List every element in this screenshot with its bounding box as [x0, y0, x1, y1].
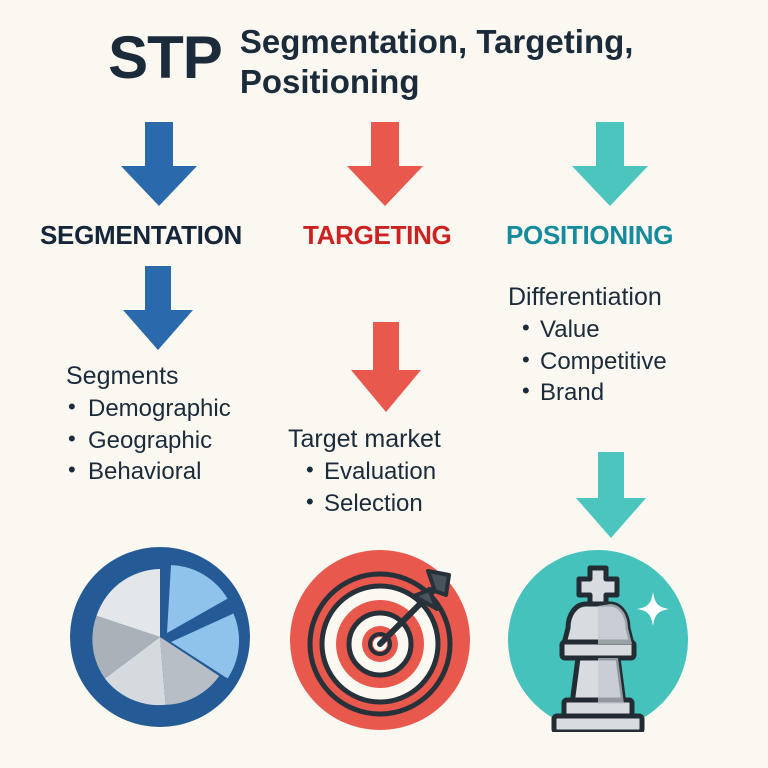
list-item: Evaluation	[304, 456, 441, 488]
block-title-segments: Segments	[66, 362, 231, 391]
infographic-canvas: STP Segmentation, Targeting, Positioning…	[0, 0, 768, 768]
down-arrow-red-mid	[348, 322, 424, 412]
text-block-segments: Segments Demographic Geographic Behavior…	[66, 362, 231, 488]
block-title-differentiation: Differentiation	[508, 283, 667, 312]
down-arrow-teal-top	[569, 122, 651, 206]
bullet-list-differentiation: Value Competitive Brand	[508, 314, 667, 409]
list-item: Geographic	[66, 425, 231, 457]
list-item: Behavioral	[66, 456, 231, 488]
block-title-target-market: Target market	[288, 425, 441, 454]
list-item: Competitive	[520, 346, 667, 378]
column-heading-segmentation: SEGMENTATION	[40, 220, 242, 251]
title-expansion: Segmentation, Targeting, Positioning	[240, 22, 660, 103]
text-block-target-market: Target market Evaluation Selection	[288, 425, 441, 519]
bullet-list-segments: Demographic Geographic Behavioral	[66, 393, 231, 488]
target-bullseye-icon	[288, 548, 472, 732]
text-block-differentiation: Differentiation Value Competitive Brand	[508, 283, 667, 409]
list-item: Value	[520, 314, 667, 346]
down-arrow-red-top	[344, 122, 426, 206]
page-title: STP Segmentation, Targeting, Positioning	[0, 22, 768, 103]
pie-chart-icon	[68, 545, 252, 729]
bullet-list-target-market: Evaluation Selection	[288, 456, 441, 519]
column-heading-positioning: POSITIONING	[506, 220, 673, 251]
down-arrow-blue-top	[118, 122, 200, 206]
title-acronym: STP	[108, 22, 222, 88]
column-heading-targeting: TARGETING	[303, 220, 451, 251]
chess-king-icon	[506, 548, 690, 732]
down-arrow-teal-mid	[573, 452, 649, 538]
list-item: Selection	[304, 488, 441, 520]
list-item: Demographic	[66, 393, 231, 425]
down-arrow-blue-mid	[120, 266, 196, 350]
list-item: Brand	[520, 377, 667, 409]
